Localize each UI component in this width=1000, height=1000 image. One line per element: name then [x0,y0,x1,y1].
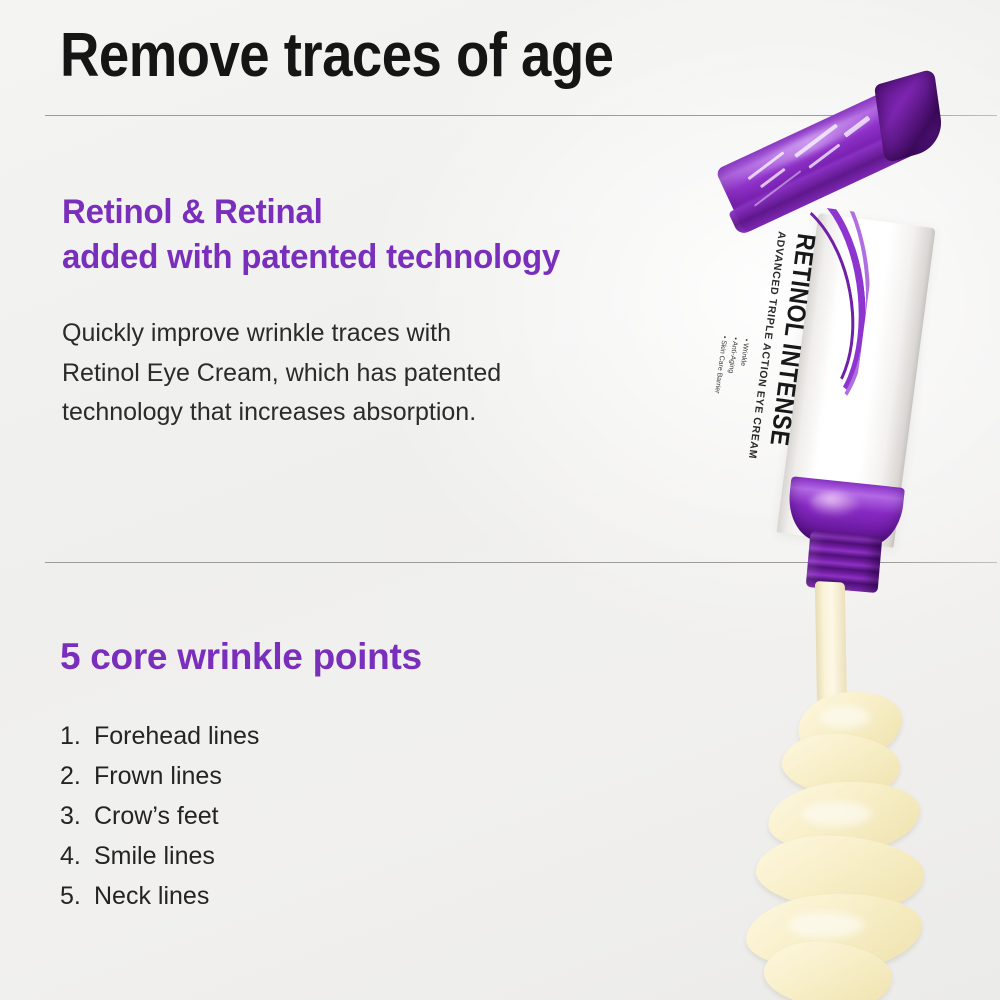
body-line-2: Retinol Eye Cream, which has patented [62,354,622,394]
wrinkle-points-list: 1.Forehead lines 2.Frown lines 3.Crow’s … [60,716,259,916]
body-line-1: Quickly improve wrinkle traces with [62,314,622,354]
shoulder-highlight [808,489,863,520]
section-one-body: Quickly improve wrinkle traces with Reti… [62,314,622,433]
list-item-number: 1. [60,716,94,756]
list-item: 4.Smile lines [60,836,259,876]
cream-swatch [750,690,980,1000]
section-one-subhead-line1: Retinol & Retinal [62,193,323,231]
list-item: 3.Crow’s feet [60,796,259,836]
crimp-fold [874,68,945,163]
product-bullets: • Wrinkle • Anti-Aging • Skin Care Barri… [711,335,751,397]
list-item-number: 3. [60,796,94,836]
list-item-label: Neck lines [94,882,209,910]
list-item: 5.Neck lines [60,876,259,916]
section-one-subhead: Retinol & Retinal added with patented te… [62,190,560,280]
promo-page: Remove traces of age Retinol & Retinal a… [0,0,1000,1000]
section-two-subhead: 5 core wrinkle points [60,636,422,678]
list-item-label: Smile lines [94,842,215,870]
list-item: 2.Frown lines [60,756,259,796]
list-item-label: Forehead lines [94,722,259,750]
section-one-subhead-line2: added with patented technology [62,235,560,280]
list-item-number: 4. [60,836,94,876]
list-item-label: Frown lines [94,762,222,790]
list-item: 1.Forehead lines [60,716,259,756]
body-line-3: technology that increases absorption. [62,393,622,433]
list-item-number: 5. [60,876,94,916]
page-title: Remove traces of age [60,23,613,88]
product-image: RETINOL INTENSE ADVANCED TRIPLE ACTION E… [690,130,1000,1000]
list-item-label: Crow’s feet [94,802,219,830]
list-item-number: 2. [60,756,94,796]
